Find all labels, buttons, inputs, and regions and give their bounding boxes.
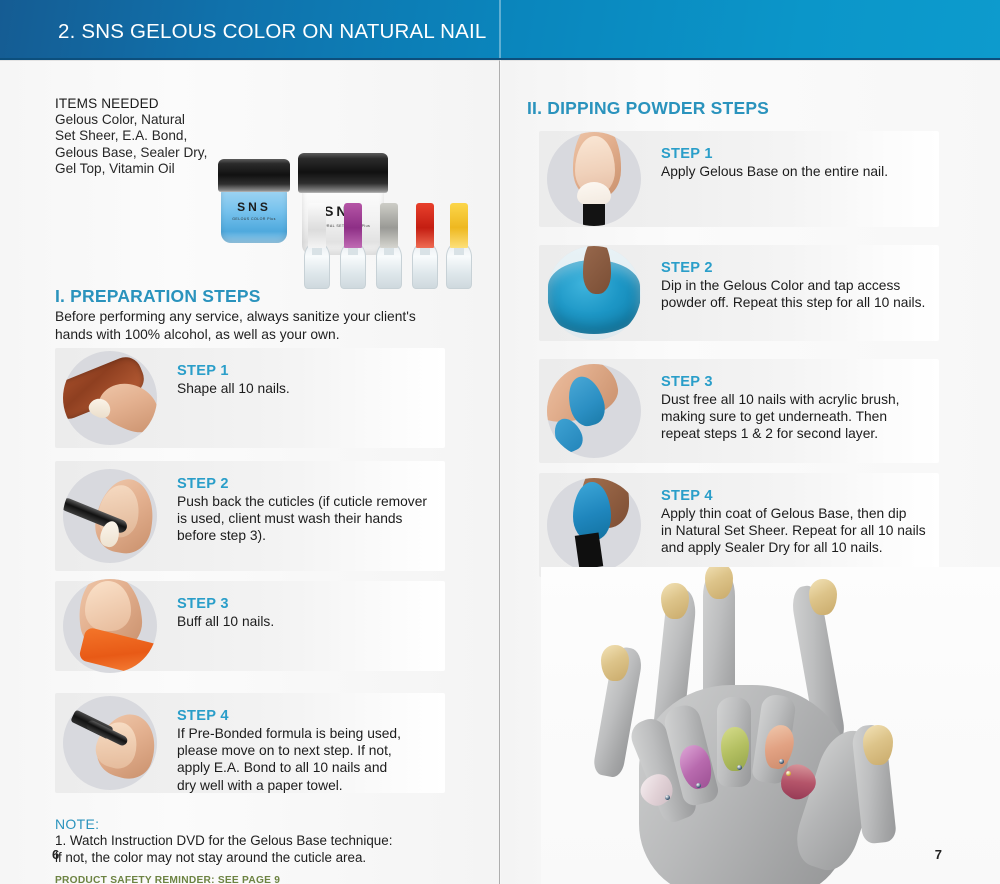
jar-brand-label: SNS [218,200,290,214]
bottle-cap [450,203,469,248]
prep-step-card-2: STEP 2 Push back the cuticles (if cuticl… [55,461,445,571]
step-text: Apply Gelous Base on the entire nail. [661,163,931,180]
jar-lid [298,153,388,193]
dip-step-card-1: STEP 1 Apply Gelous Base on the entire n… [539,131,939,227]
items-needed-block: ITEMS NEEDED Gelous Color, Natural Set S… [55,96,225,177]
right-page: II. DIPPING POWDER STEPS STEP 1 Apply Ge… [501,60,1000,884]
dip-powder-jar-thumb [547,246,641,340]
step-text: Push back the cuticles (if cuticle remov… [177,493,437,545]
step-label: STEP 2 [177,476,437,492]
step-text: Apply thin coat of Gelous Base, then dip… [661,505,931,557]
white-cap-bottle [304,203,330,289]
dip-step-card-3: STEP 3 Dust free all 10 nails with acryl… [539,359,939,463]
dipping-powder-steps-heading: II. DIPPING POWDER STEPS [527,98,769,119]
manicured-hand-photo [541,567,1000,884]
step-text: Dust free all 10 nails with acrylic brus… [661,391,931,443]
step-label: STEP 4 [661,488,931,504]
nail-file-shaping-thumb [63,351,157,445]
note-title: NOTE: [55,816,455,832]
blue-nail-dusting-thumb [547,364,641,458]
note-text: 1. Watch Instruction DVD for the Gelous … [55,833,455,866]
chapter-header-bar: 2. SNS GELOUS COLOR ON NATURAL NAIL [0,0,1000,58]
bottle-cap [416,203,435,248]
nail-gold-front [863,725,893,765]
step-text: Buff all 10 nails. [177,613,437,630]
nail-gem [779,759,784,764]
prep-step-card-3: STEP 3 Buff all 10 nails. [55,581,445,671]
page-spread: ITEMS NEEDED Gelous Color, Natural Set S… [0,60,1000,884]
nail-pinky [601,645,629,681]
silver-cap-bottle [376,203,402,289]
step-label: STEP 1 [661,146,931,162]
bottle-cap [308,203,327,248]
magazine-spread: 2. SNS GELOUS COLOR ON NATURAL NAIL ITEM… [0,0,1000,884]
header-center-divider [499,0,501,58]
product-safety-reminder: PRODUCT SAFETY REMINDER: SEE PAGE 9 [55,875,280,884]
page-title: 2. SNS GELOUS COLOR ON NATURAL NAIL [58,20,487,44]
nail-gem [786,771,791,776]
dip-step-card-2: STEP 2 Dip in the Gelous Color and tap a… [539,245,939,341]
yellow-cap-bottle [446,203,472,289]
jar-lid [218,159,290,192]
step-text: Dip in the Gelous Color and tap access p… [661,277,931,311]
step-label: STEP 3 [177,596,437,612]
step-label: STEP 4 [177,708,437,724]
gelous-color-jar: SNS GELOUS COLOR Plus [218,159,290,245]
items-needed-list: Gelous Color, Natural Set Sheer, E.A. Bo… [55,112,225,177]
step-label: STEP 1 [177,363,437,379]
step-label: STEP 3 [661,374,931,390]
page-number-left: 6 [52,847,59,862]
purple-cap-bottle [340,203,366,289]
note-block: NOTE: 1. Watch Instruction DVD for the G… [55,816,455,866]
product-lineup-photo: SNS GELOUS COLOR Plus SNS NATURAL SET SH… [218,149,453,289]
nail-gem [665,795,670,800]
bottle-cap [344,203,363,248]
nail-gem [696,783,701,788]
dip-step-card-4: STEP 4 Apply thin coat of Gelous Base, t… [539,473,939,577]
step-text: Shape all 10 nails. [177,380,437,397]
nail-ring [809,579,837,615]
cuticle-pusher-thumb [63,469,157,563]
gelous-base-applied-thumb [547,132,641,226]
left-page: ITEMS NEEDED Gelous Color, Natural Set S… [0,60,500,884]
preparation-intro-text: Before performing any service, always sa… [55,308,445,343]
step-label: STEP 2 [661,260,931,276]
items-needed-title: ITEMS NEEDED [55,96,225,111]
red-cap-bottle [412,203,438,289]
buffer-block-thumb [63,579,157,673]
blue-nail-sealer-thumb [547,478,641,572]
nail-gem [737,765,742,770]
nail-olive [721,727,749,771]
jar-sub-label: GELOUS COLOR Plus [218,217,290,221]
page-number-right: 7 [935,847,942,862]
nail-index [661,583,689,619]
prep-step-card-4: STEP 4 If Pre-Bonded formula is being us… [55,693,445,793]
preparation-steps-heading: I. PREPARATION STEPS [55,286,261,307]
prep-step-card-1: STEP 1 Shape all 10 nails. [55,348,445,448]
step-text: If Pre-Bonded formula is being used, ple… [177,725,437,794]
bond-brush-thumb [63,696,157,790]
bottle-cap [380,203,399,248]
